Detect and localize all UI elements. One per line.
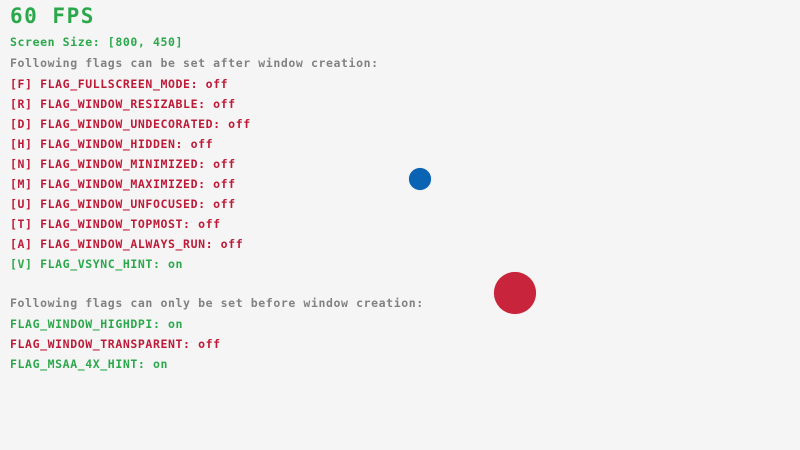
flag-row-flag-window-always-run[interactable]: [A] FLAG_WINDOW_ALWAYS_RUN: off	[10, 239, 243, 251]
flag-row-flag-window-hidden[interactable]: [H] FLAG_WINDOW_HIDDEN: off	[10, 139, 213, 151]
section-header-after-creation: Following flags can be set after window …	[10, 58, 379, 70]
screen-size-label: Screen Size: [800, 450]	[10, 37, 183, 49]
fps-counter: 60 FPS	[10, 6, 95, 27]
flag-row-flag-fullscreen-mode[interactable]: [F] FLAG_FULLSCREEN_MODE: off	[10, 79, 228, 91]
flag-row-flag-window-maximized[interactable]: [M] FLAG_WINDOW_MAXIMIZED: off	[10, 179, 236, 191]
flag-row-flag-window-minimized[interactable]: [N] FLAG_WINDOW_MINIMIZED: off	[10, 159, 236, 171]
red-ball	[494, 272, 536, 314]
flag-row-flag-vsync-hint[interactable]: [V] FLAG_VSYNC_HINT: on	[10, 259, 183, 271]
flag-row-flag-window-undecorated[interactable]: [D] FLAG_WINDOW_UNDECORATED: off	[10, 119, 251, 131]
raylib-window-canvas[interactable]: 60 FPS Screen Size: [800, 450] Following…	[0, 0, 800, 450]
flag-row-flag-window-resizable[interactable]: [R] FLAG_WINDOW_RESIZABLE: off	[10, 99, 236, 111]
blue-ball	[409, 168, 431, 190]
flag-row-flag-window-transparent[interactable]: FLAG_WINDOW_TRANSPARENT: off	[10, 339, 221, 351]
section-header-before-creation: Following flags can only be set before w…	[10, 298, 424, 310]
flag-row-flag-window-topmost[interactable]: [T] FLAG_WINDOW_TOPMOST: off	[10, 219, 221, 231]
flag-row-flag-window-unfocused[interactable]: [U] FLAG_WINDOW_UNFOCUSED: off	[10, 199, 236, 211]
flag-row-flag-window-highdpi[interactable]: FLAG_WINDOW_HIGHDPI: on	[10, 319, 183, 331]
flag-row-flag-msaa-4x-hint[interactable]: FLAG_MSAA_4X_HINT: on	[10, 359, 168, 371]
